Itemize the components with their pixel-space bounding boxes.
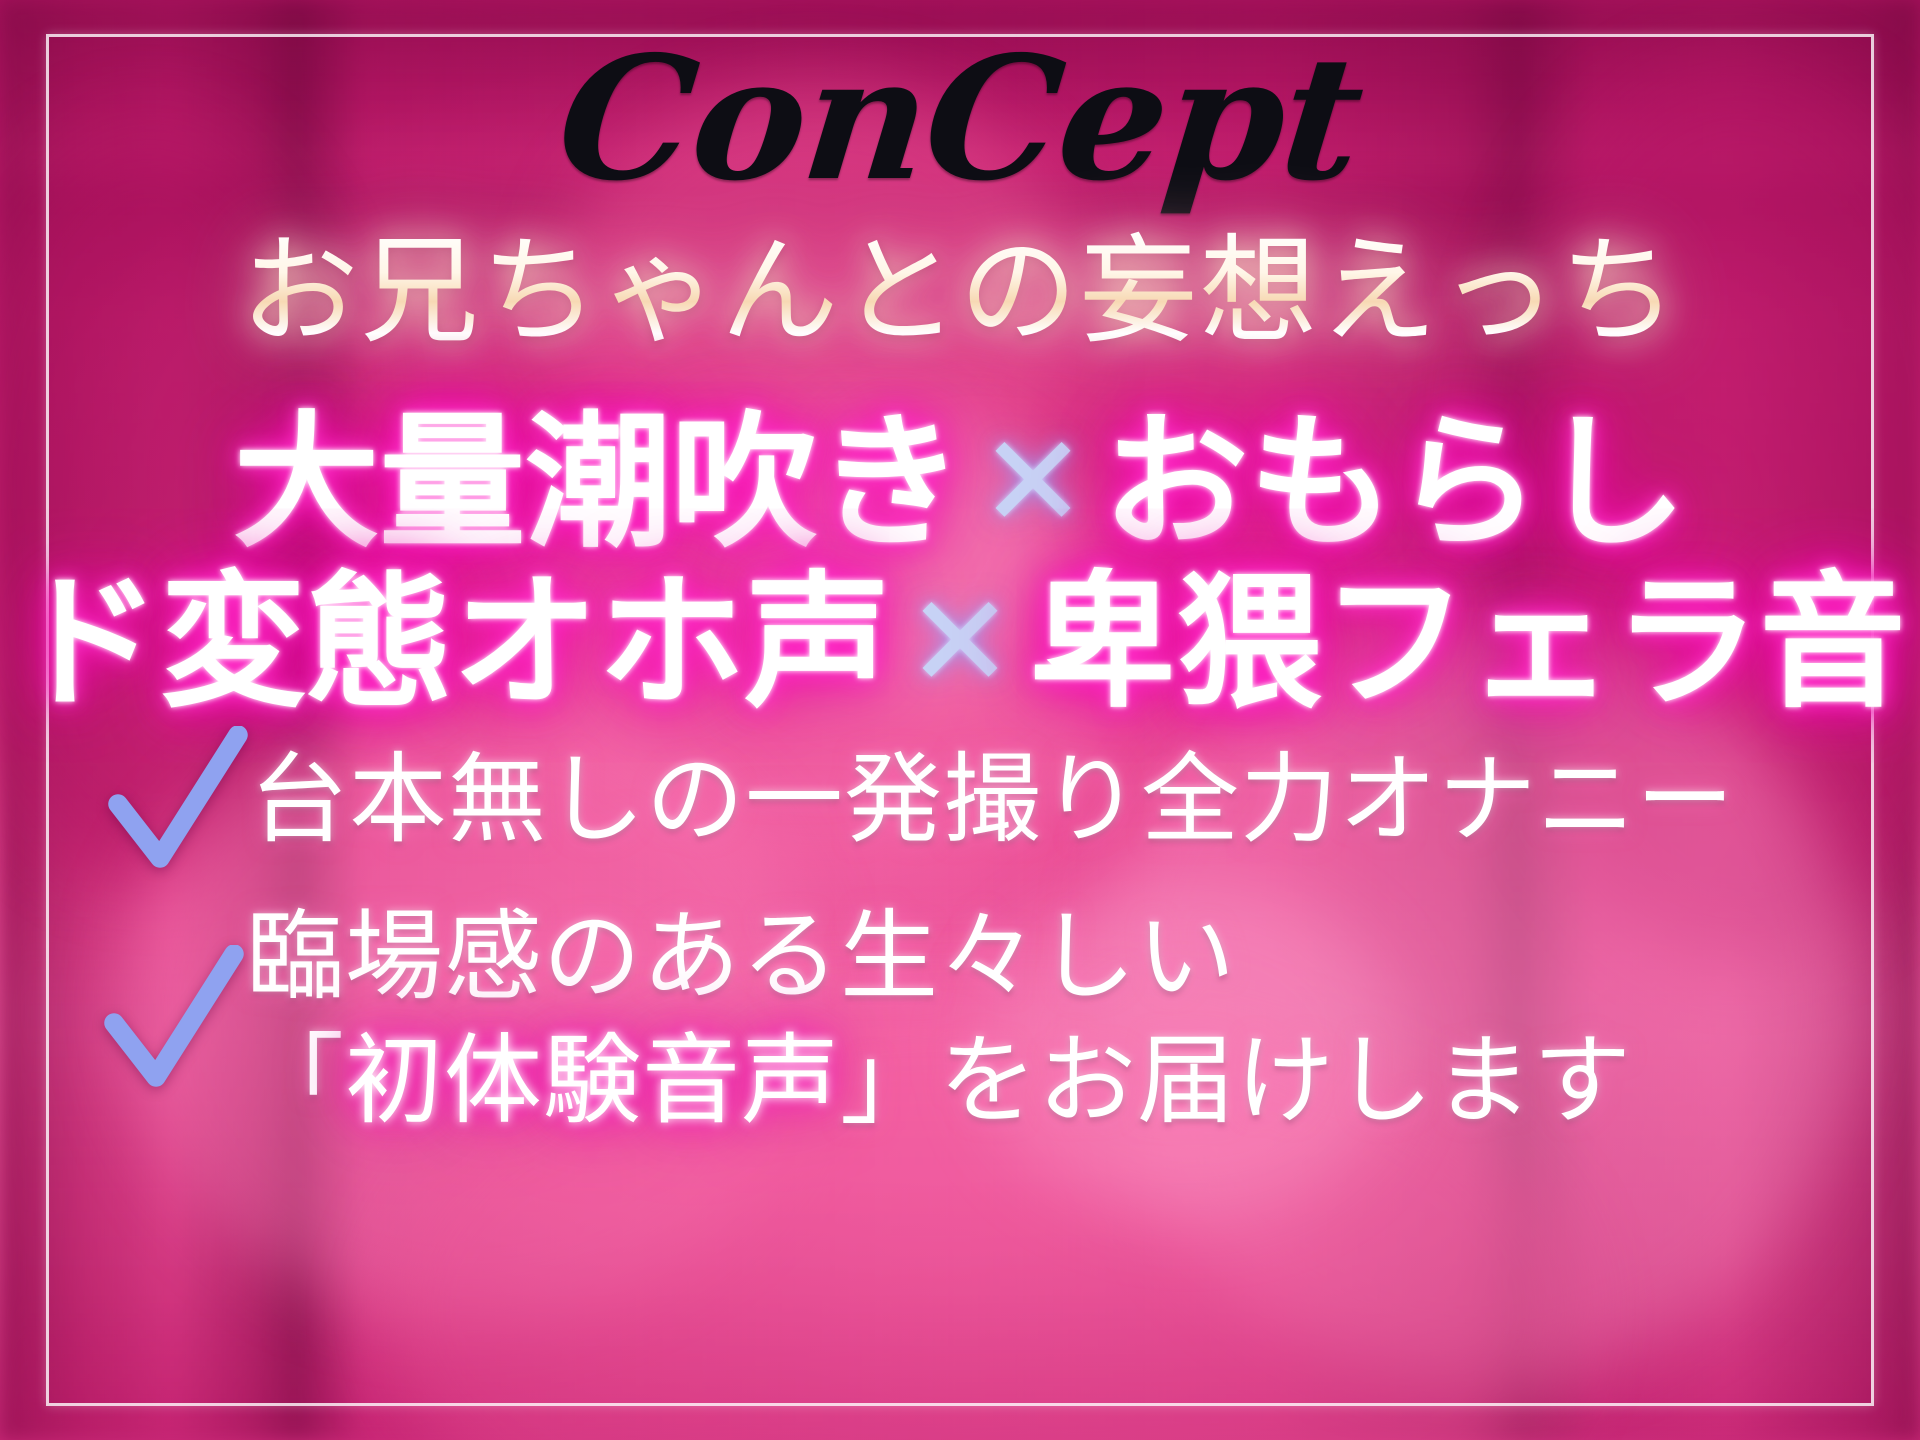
check-icon (96, 945, 246, 1095)
content-area: ConCept お兄ちゃんとの妄想えっち 大量潮吹き✕おもらし ド変態オホ声✕卑… (0, 0, 1920, 1440)
cross-separator-icon: ✕ (906, 579, 1013, 707)
concept-banner: ConCept お兄ちゃんとの妄想えっち 大量潮吹き✕おもらし ド変態オホ声✕卑… (0, 0, 1920, 1440)
list-item: 台本無しの一発撮り全力オナニー (100, 726, 1824, 876)
page-title: ConCept (0, 34, 1920, 204)
check-icon (100, 726, 250, 876)
check-list: 台本無しの一発撮り全力オナニー 臨場感のある生々しい 「初体験音声」をお届けしま… (96, 726, 1824, 1141)
quote-close-and-tail: 」をお届けします (840, 1024, 1632, 1138)
neon-line-2-right: 卑猥フェラ音 (1030, 558, 1906, 728)
check-item-1-text: 台本無しの一発撮り全力オナニー (250, 741, 1735, 861)
neon-line-1: 大量潮吹き✕おもらし (0, 400, 1920, 556)
neon-line-1-left: 大量潮吹き (233, 398, 963, 568)
neon-line-2-left: ド変態オホ声 (14, 558, 890, 728)
check-item-2-line-2: 「初体験音声」をお届けします (246, 1022, 1632, 1142)
cross-separator-icon: ✕ (979, 419, 1086, 547)
check-item-2-line-1: 臨場感のある生々しい (246, 898, 1632, 1018)
neon-line-1-right: おもらし (1103, 398, 1687, 568)
list-item: 臨場感のある生々しい 「初体験音声」をお届けします (96, 898, 1824, 1141)
subtitle-text: お兄ちゃんとの妄想えっち (0, 225, 1920, 357)
quote-open: 「 (246, 1024, 345, 1138)
highlighted-phrase: 初体験音声 (345, 1024, 840, 1138)
neon-line-2: ド変態オホ声✕卑猥フェラ音 (0, 560, 1920, 716)
check-item-2-text: 臨場感のある生々しい 「初体験音声」をお届けします (246, 898, 1632, 1141)
